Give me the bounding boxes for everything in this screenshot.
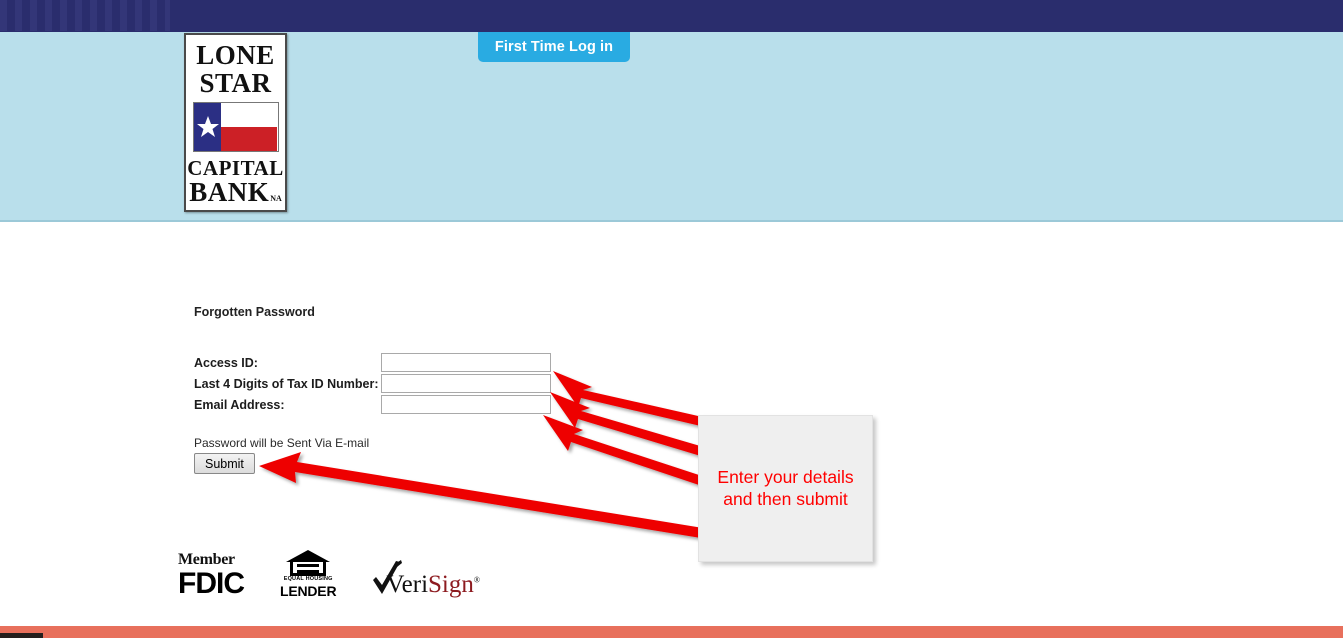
logo-text-lone: LONE xyxy=(196,42,275,69)
equal-housing-lender-badge: EQUAL HOUSING LENDER xyxy=(280,550,336,599)
verisign-badge: VeriSign® xyxy=(372,572,480,599)
page-title: Forgotten Password xyxy=(194,305,315,319)
form-row-access-id: Access ID: xyxy=(194,352,551,373)
cell-email-input xyxy=(381,394,551,415)
lone-star-icon xyxy=(196,115,220,139)
arrow-to-access-id xyxy=(553,371,707,427)
trademark-symbol: ® xyxy=(474,575,480,584)
label-email-address: Email Address: xyxy=(194,394,381,415)
arrow-to-submit xyxy=(259,452,703,538)
texas-flag-icon xyxy=(193,102,279,152)
arrow-to-email xyxy=(543,415,702,485)
logo-text-star: STAR xyxy=(199,70,271,97)
access-id-input[interactable] xyxy=(381,353,551,372)
arrow-to-tax-id xyxy=(550,392,707,457)
logo-text-na: NA xyxy=(270,194,282,203)
logo-text-capital: CAPITAL xyxy=(187,158,283,179)
form-row-tax-id: Last 4 Digits of Tax ID Number: xyxy=(194,373,551,394)
equal-housing-text: EQUAL HOUSING xyxy=(280,577,336,583)
flag-red-stripe xyxy=(221,127,277,151)
first-time-login-tab[interactable]: First Time Log in xyxy=(478,32,630,62)
top-navigation-bar xyxy=(0,0,1343,32)
verisign-eri: eri xyxy=(402,571,428,598)
password-delivery-note: Password will be Sent Via E-mail xyxy=(194,436,369,450)
lender-text: LENDER xyxy=(280,584,336,598)
fdic-text: FDIC xyxy=(178,569,244,599)
label-tax-id: Last 4 Digits of Tax ID Number: xyxy=(194,373,381,394)
logo-text-bank: BANK xyxy=(189,179,269,206)
footer-badges: Member FDIC EQUAL HOUSING LENDER VeriSig… xyxy=(178,550,480,599)
verisign-checkmark-icon xyxy=(371,560,403,600)
annotation-callout-text: Enter your details and then submit xyxy=(717,467,853,511)
bottom-bar-dark-segment xyxy=(0,633,43,638)
forgotten-password-form: Access ID: Last 4 Digits of Tax ID Numbe… xyxy=(194,352,551,415)
equals-bar-top xyxy=(297,564,319,567)
submit-button[interactable]: Submit xyxy=(194,453,255,474)
equal-housing-house-icon xyxy=(286,550,330,576)
verisign-sign: Sign xyxy=(428,571,474,598)
bottom-accent-bar xyxy=(0,626,1343,638)
label-access-id: Access ID: xyxy=(194,352,381,373)
flag-white-stripe xyxy=(221,103,277,127)
logo-bank-row: BANK NA xyxy=(189,179,282,206)
cell-access-id-input xyxy=(381,352,551,373)
email-address-input[interactable] xyxy=(381,395,551,414)
tax-id-input[interactable] xyxy=(381,374,551,393)
top-bar-left-panel xyxy=(0,0,170,31)
annotation-callout: Enter your details and then submit xyxy=(698,415,873,562)
bank-logo[interactable]: LONE STAR CAPITAL BANK NA xyxy=(184,33,287,212)
fdic-badge: Member FDIC xyxy=(178,552,244,599)
equals-bar-bottom xyxy=(297,570,319,573)
fdic-member-text: Member xyxy=(178,552,244,568)
cell-tax-id-input xyxy=(381,373,551,394)
form-row-email: Email Address: xyxy=(194,394,551,415)
